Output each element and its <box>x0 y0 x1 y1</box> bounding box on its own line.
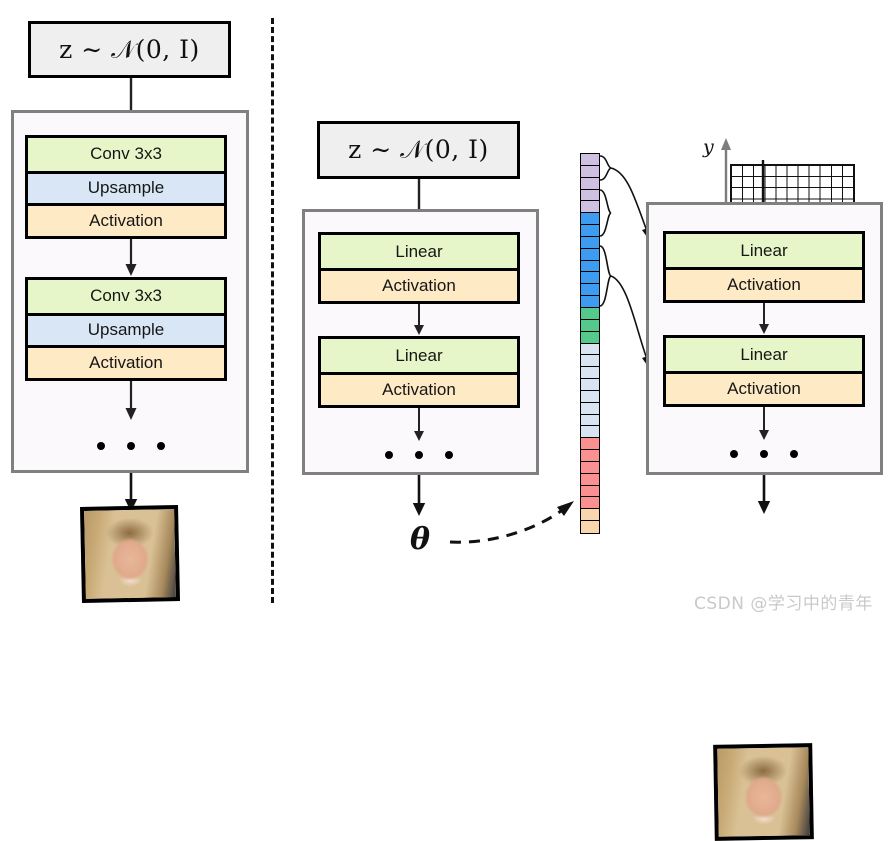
photo-pixels <box>717 747 810 837</box>
vector-cell <box>581 344 599 356</box>
right-arrow-block2-to-dots <box>753 407 775 441</box>
vector-cell <box>581 308 599 320</box>
left-block-2: Conv 3x3 Upsample Activation <box>25 277 227 381</box>
right-block-1-layer-activation: Activation <box>666 267 862 300</box>
middle-latent-box: z ∼ 𝒩(0, I) <box>317 121 520 179</box>
middle-block-2-layer-linear: Linear <box>321 339 517 372</box>
vector-cell <box>581 497 599 509</box>
ellipsis-dot <box>157 442 165 450</box>
middle-ellipsis <box>378 449 460 461</box>
middle-arrow-block2-to-dots <box>408 408 430 442</box>
parameter-vector-strip <box>580 153 600 534</box>
ellipsis-dot <box>760 450 768 458</box>
left-block-2-layer-upsample: Upsample <box>28 313 224 346</box>
middle-arrow-stage-to-theta <box>408 475 430 517</box>
vector-cell <box>581 391 599 403</box>
right-ellipsis <box>723 448 805 460</box>
left-block-1: Conv 3x3 Upsample Activation <box>25 135 227 239</box>
vector-cell <box>581 154 599 166</box>
vector-cell <box>581 284 599 296</box>
vector-cell <box>581 438 599 450</box>
vector-cell <box>581 272 599 284</box>
vector-cell <box>581 225 599 237</box>
middle-block-1-layer-activation: Activation <box>321 268 517 301</box>
vector-cell <box>581 450 599 462</box>
panel-divider <box>271 18 274 603</box>
vector-cell <box>581 249 599 261</box>
theta-symbol: θ <box>400 519 440 559</box>
middle-block-1: Linear Activation <box>318 232 520 304</box>
left-arrow-block1-to-block2 <box>120 239 142 277</box>
vector-cell <box>581 521 599 533</box>
left-block-1-layer-upsample: Upsample <box>28 171 224 204</box>
diagram-canvas: z ∼ 𝒩(0, I) Conv 3x3 Upsample Activation… <box>0 0 896 621</box>
right-block-2-layer-linear: Linear <box>666 338 862 371</box>
middle-block-2: Linear Activation <box>318 336 520 408</box>
vector-cell <box>581 178 599 190</box>
plot-y-label: y <box>703 136 714 158</box>
vector-cell <box>581 296 599 308</box>
right-block-2: Linear Activation <box>663 335 865 407</box>
ellipsis-dot <box>445 451 453 459</box>
right-output-photo <box>713 743 814 841</box>
vector-cell <box>581 355 599 367</box>
csdn-watermark: CSDN @学习中的青年 <box>694 589 873 614</box>
vector-cell <box>581 190 599 202</box>
vector-cell <box>581 320 599 332</box>
right-block-1: Linear Activation <box>663 231 865 303</box>
right-arrow-stage-to-photo <box>753 475 775 515</box>
middle-block-1-layer-linear: Linear <box>321 235 517 268</box>
ellipsis-dot <box>415 451 423 459</box>
left-arrow-block2-to-dots <box>120 381 142 421</box>
left-block-2-layer-conv: Conv 3x3 <box>28 280 224 313</box>
left-latent-box: z ∼ 𝒩(0, I) <box>28 21 231 78</box>
left-output-photo <box>80 505 180 603</box>
vector-cell <box>581 201 599 213</box>
theta-to-vector-dashed-arrow <box>445 495 580 550</box>
vector-cell <box>581 486 599 498</box>
vector-cell <box>581 426 599 438</box>
left-block-2-layer-activation: Activation <box>28 345 224 378</box>
left-latent-formula: z ∼ 𝒩(0, I) <box>59 35 200 65</box>
left-block-1-layer-activation: Activation <box>28 203 224 236</box>
vector-cell <box>581 403 599 415</box>
vector-cell <box>581 213 599 225</box>
right-arrow-block1-to-block2 <box>753 303 775 335</box>
ellipsis-dot <box>127 442 135 450</box>
vector-cell <box>581 379 599 391</box>
middle-arrow-block1-to-block2 <box>408 304 430 336</box>
vector-cell <box>581 474 599 486</box>
vector-cell <box>581 462 599 474</box>
ellipsis-dot <box>790 450 798 458</box>
vector-cell <box>581 166 599 178</box>
right-block-2-layer-activation: Activation <box>666 371 862 404</box>
ellipsis-dot <box>97 442 105 450</box>
left-block-1-layer-conv: Conv 3x3 <box>28 138 224 171</box>
left-ellipsis <box>90 440 172 452</box>
vector-cell <box>581 237 599 249</box>
middle-latent-formula: z ∼ 𝒩(0, I) <box>348 135 489 165</box>
vector-cell <box>581 415 599 427</box>
vector-cell <box>581 332 599 344</box>
photo-pixels <box>84 509 176 599</box>
vector-cell <box>581 367 599 379</box>
right-block-1-layer-linear: Linear <box>666 234 862 267</box>
vector-cell <box>581 261 599 273</box>
ellipsis-dot <box>385 451 393 459</box>
middle-block-2-layer-activation: Activation <box>321 372 517 405</box>
ellipsis-dot <box>730 450 738 458</box>
vector-cell <box>581 509 599 521</box>
